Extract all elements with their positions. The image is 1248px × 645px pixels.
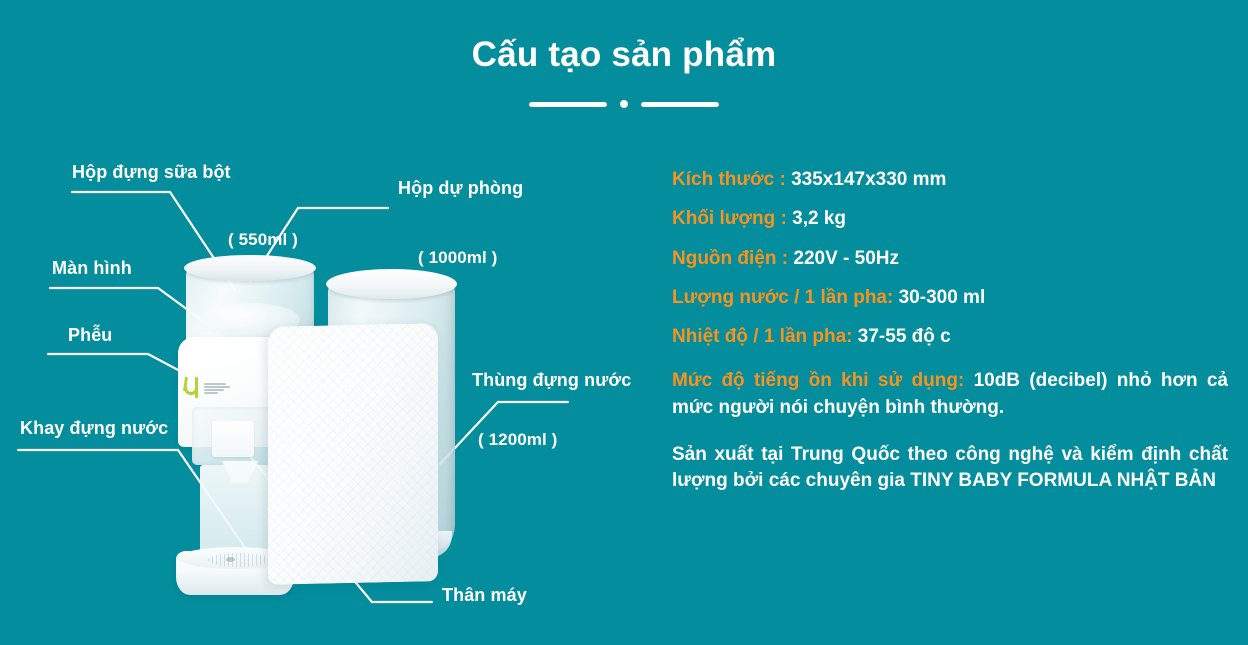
callout-funnel: Phễu [68, 325, 112, 346]
spec-value-water-volume: 30-300 ml [899, 287, 986, 308]
logo-bowl-shape [184, 387, 198, 395]
drip-tray-grate [208, 553, 270, 567]
callout-tank-volume: ( 1200ml ) [478, 430, 557, 450]
specification-list: Kích thước : 335x147x330 mm Khối lượng :… [672, 168, 1228, 495]
water-tank-lid [326, 269, 457, 299]
spec-row-noise: Mức độ tiếng ồn khi sử dụng: 10dB (decib… [672, 368, 1228, 422]
spec-label-temperature: Nhiệt độ / 1 lần pha: [672, 326, 853, 347]
spec-row-weight: Khối lượng : 3,2 kg [672, 207, 1228, 231]
divider-bar-right [641, 102, 719, 107]
callout-powder-volume: ( 550ml ) [228, 230, 298, 250]
funnel-window [212, 421, 254, 457]
logo-wordmark [204, 383, 230, 394]
spec-row-dimensions: Kích thước : 335x147x330 mm [672, 168, 1228, 192]
spec-value-weight: 3,2 kg [792, 208, 846, 229]
spec-label-dimensions: Kích thước : [672, 169, 786, 190]
callout-spare-box: Hộp dự phòng [398, 178, 523, 199]
spec-label-water-volume: Lượng nước / 1 lần pha: [672, 287, 893, 308]
divider-dot [620, 100, 628, 108]
divider-bar-left [529, 102, 607, 107]
product-image [170, 255, 470, 595]
spec-label-power: Nguồn điện : [672, 248, 793, 269]
spec-label-noise: Mức độ tiếng ồn khi sử dụng: [672, 370, 974, 391]
spec-row-water-volume: Lượng nước / 1 lần pha: 30-300 ml [672, 286, 1228, 310]
spec-label-weight: Khối lượng : [672, 208, 792, 229]
spec-value-dimensions: 335x147x330 mm [791, 169, 946, 190]
spec-value-temperature: 37-55 độ c [858, 326, 951, 347]
product-structure-infographic: Cấu tạo sản phẩm [0, 0, 1248, 645]
logo-mark-icon [184, 377, 200, 399]
callout-water-tank: Thùng đựng nước [472, 370, 631, 391]
drip-tray-hole [226, 557, 235, 562]
callout-water-tray: Khay đựng nước [20, 418, 168, 439]
title-divider [0, 100, 1248, 108]
page-title: Cấu tạo sản phẩm [0, 34, 1248, 76]
callout-screen: Màn hình [52, 258, 132, 279]
callout-powder-box: Hộp đựng sữa bột [72, 162, 231, 183]
product-diagram: Hộp đựng sữa bột ( 550ml ) Màn hình Phễu… [0, 130, 660, 645]
manufacturing-note: Sản xuất tại Trung Quốc theo công nghệ v… [672, 442, 1228, 496]
brand-logo [184, 373, 248, 403]
spec-value-power: 220V - 50Hz [793, 248, 899, 269]
front-body-panel [268, 323, 438, 585]
spec-row-temperature: Nhiệt độ / 1 lần pha: 37-55 độ c [672, 325, 1228, 349]
callout-spare-volume: ( 1000ml ) [418, 248, 497, 268]
spec-row-power: Nguồn điện : 220V - 50Hz [672, 247, 1228, 271]
callout-body: Thân máy [442, 585, 527, 606]
powder-container-lid [184, 255, 316, 281]
